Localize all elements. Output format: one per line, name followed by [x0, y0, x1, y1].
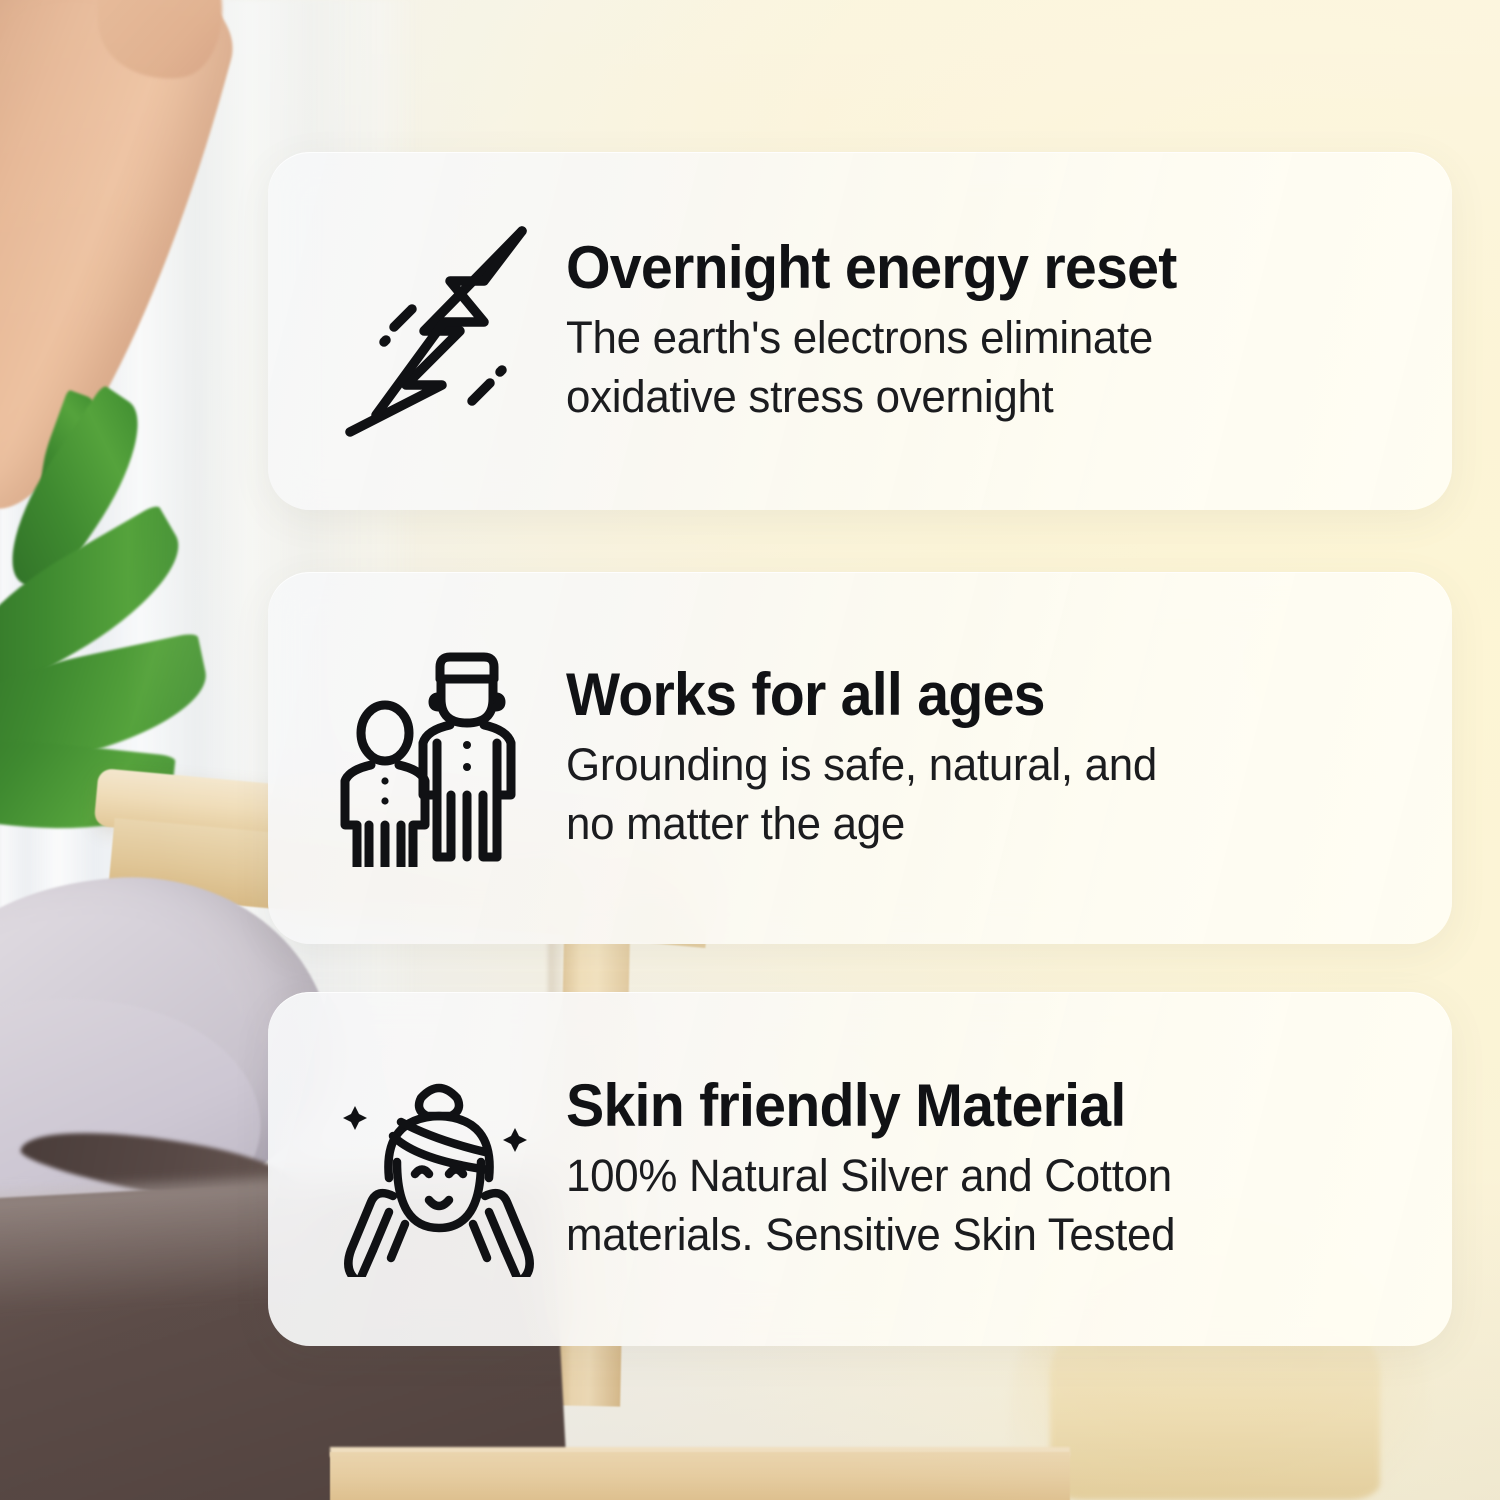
card-description-line: oxidative stress overnight — [566, 368, 1375, 427]
card-description: 100% Natural Silver and Cotton materials… — [566, 1147, 1375, 1264]
two-people-adult-and-child-icon — [322, 649, 552, 867]
face-skincare-hands-icon — [322, 1062, 552, 1277]
card-description-line: The earth's electrons eliminate — [566, 309, 1375, 368]
feature-card-overnight-energy-reset[interactable]: Overnight energy reset The earth's elect… — [268, 152, 1452, 510]
feature-card-list: Overnight energy reset The earth's elect… — [268, 0, 1452, 1500]
card-title: Works for all ages — [566, 663, 1359, 727]
lightning-bolt-icon — [322, 219, 552, 444]
infographic-canvas: Overnight energy reset The earth's elect… — [0, 0, 1500, 1500]
card-text-block: Works for all ages Grounding is safe, na… — [552, 663, 1396, 854]
card-description: Grounding is safe, natural, and no matte… — [566, 736, 1375, 853]
card-description: The earth's electrons eliminate oxidativ… — [566, 309, 1375, 426]
card-text-block: Overnight energy reset The earth's elect… — [552, 236, 1396, 427]
feature-card-skin-friendly-material[interactable]: Skin friendly Material 100% Natural Silv… — [268, 992, 1452, 1346]
card-title: Overnight energy reset — [566, 236, 1359, 300]
card-description-line: no matter the age — [566, 795, 1375, 854]
card-text-block: Skin friendly Material 100% Natural Silv… — [552, 1074, 1396, 1265]
card-description-line: materials. Sensitive Skin Tested — [566, 1206, 1375, 1265]
feature-card-works-for-all-ages[interactable]: Works for all ages Grounding is safe, na… — [268, 572, 1452, 944]
card-description-line: Grounding is safe, natural, and — [566, 736, 1375, 795]
card-description-line: 100% Natural Silver and Cotton — [566, 1147, 1375, 1206]
card-title: Skin friendly Material — [566, 1074, 1359, 1138]
